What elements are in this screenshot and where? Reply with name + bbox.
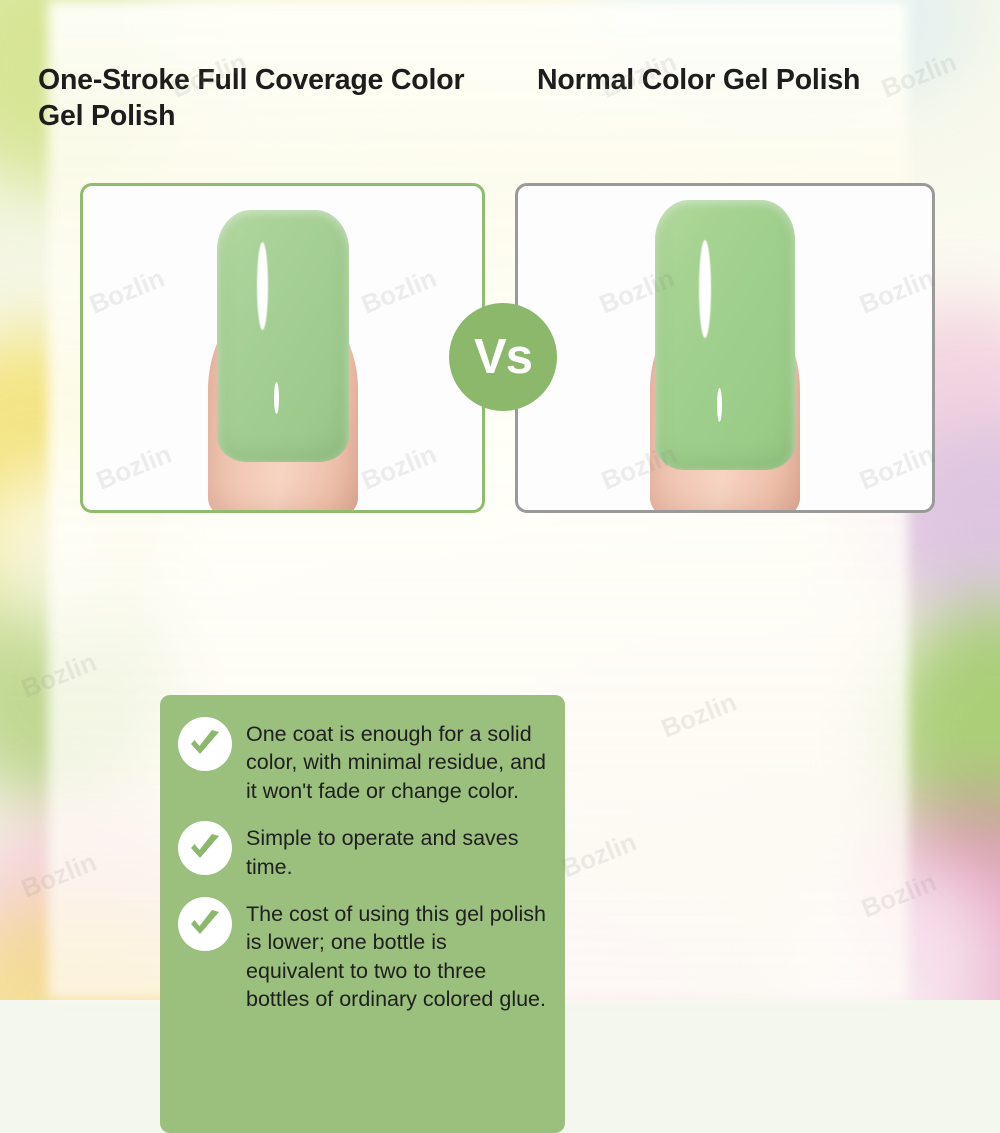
list-item-text: The cost of using this gel polish is low… xyxy=(246,897,546,1014)
nail-shine-main xyxy=(257,242,268,330)
list-item: Simple to operate and saves time. xyxy=(178,821,547,881)
nail-swatch-one-stroke xyxy=(217,210,349,462)
list-item-text: Simple to operate and saves time. xyxy=(246,821,546,881)
nail-shine-secondary xyxy=(717,388,722,422)
headings-row: One-Stroke Full Coverage Color Gel Polis… xyxy=(0,62,1000,172)
check-icon xyxy=(178,717,232,771)
right-comparison-column: It takes 2-3 coats to achieve a solid co… xyxy=(515,183,935,513)
left-comparison-column: One coat is enough for a solid color, wi… xyxy=(80,183,485,513)
benefits-panel: One coat is enough for a solid color, wi… xyxy=(160,695,565,1133)
list-item: The cost of using this gel polish is low… xyxy=(178,897,547,1014)
list-item: One coat is enough for a solid color, wi… xyxy=(178,717,547,805)
comparison-infographic: One-Stroke Full Coverage Color Gel Polis… xyxy=(0,0,1000,1000)
product-photo-one-stroke xyxy=(80,183,485,513)
vs-badge: Vs xyxy=(449,303,557,411)
page-title-right: Normal Color Gel Polish xyxy=(537,62,977,98)
list-item-text: One coat is enough for a solid color, wi… xyxy=(246,717,546,805)
vs-badge-label: Vs xyxy=(474,329,532,385)
page-title-left: One-Stroke Full Coverage Color Gel Polis… xyxy=(38,62,508,135)
check-icon xyxy=(178,897,232,951)
check-icon xyxy=(178,821,232,875)
product-photo-normal xyxy=(515,183,935,513)
nail-shine-main xyxy=(699,240,711,338)
nail-shine-secondary xyxy=(274,382,279,414)
nail-swatch-normal xyxy=(655,200,795,470)
